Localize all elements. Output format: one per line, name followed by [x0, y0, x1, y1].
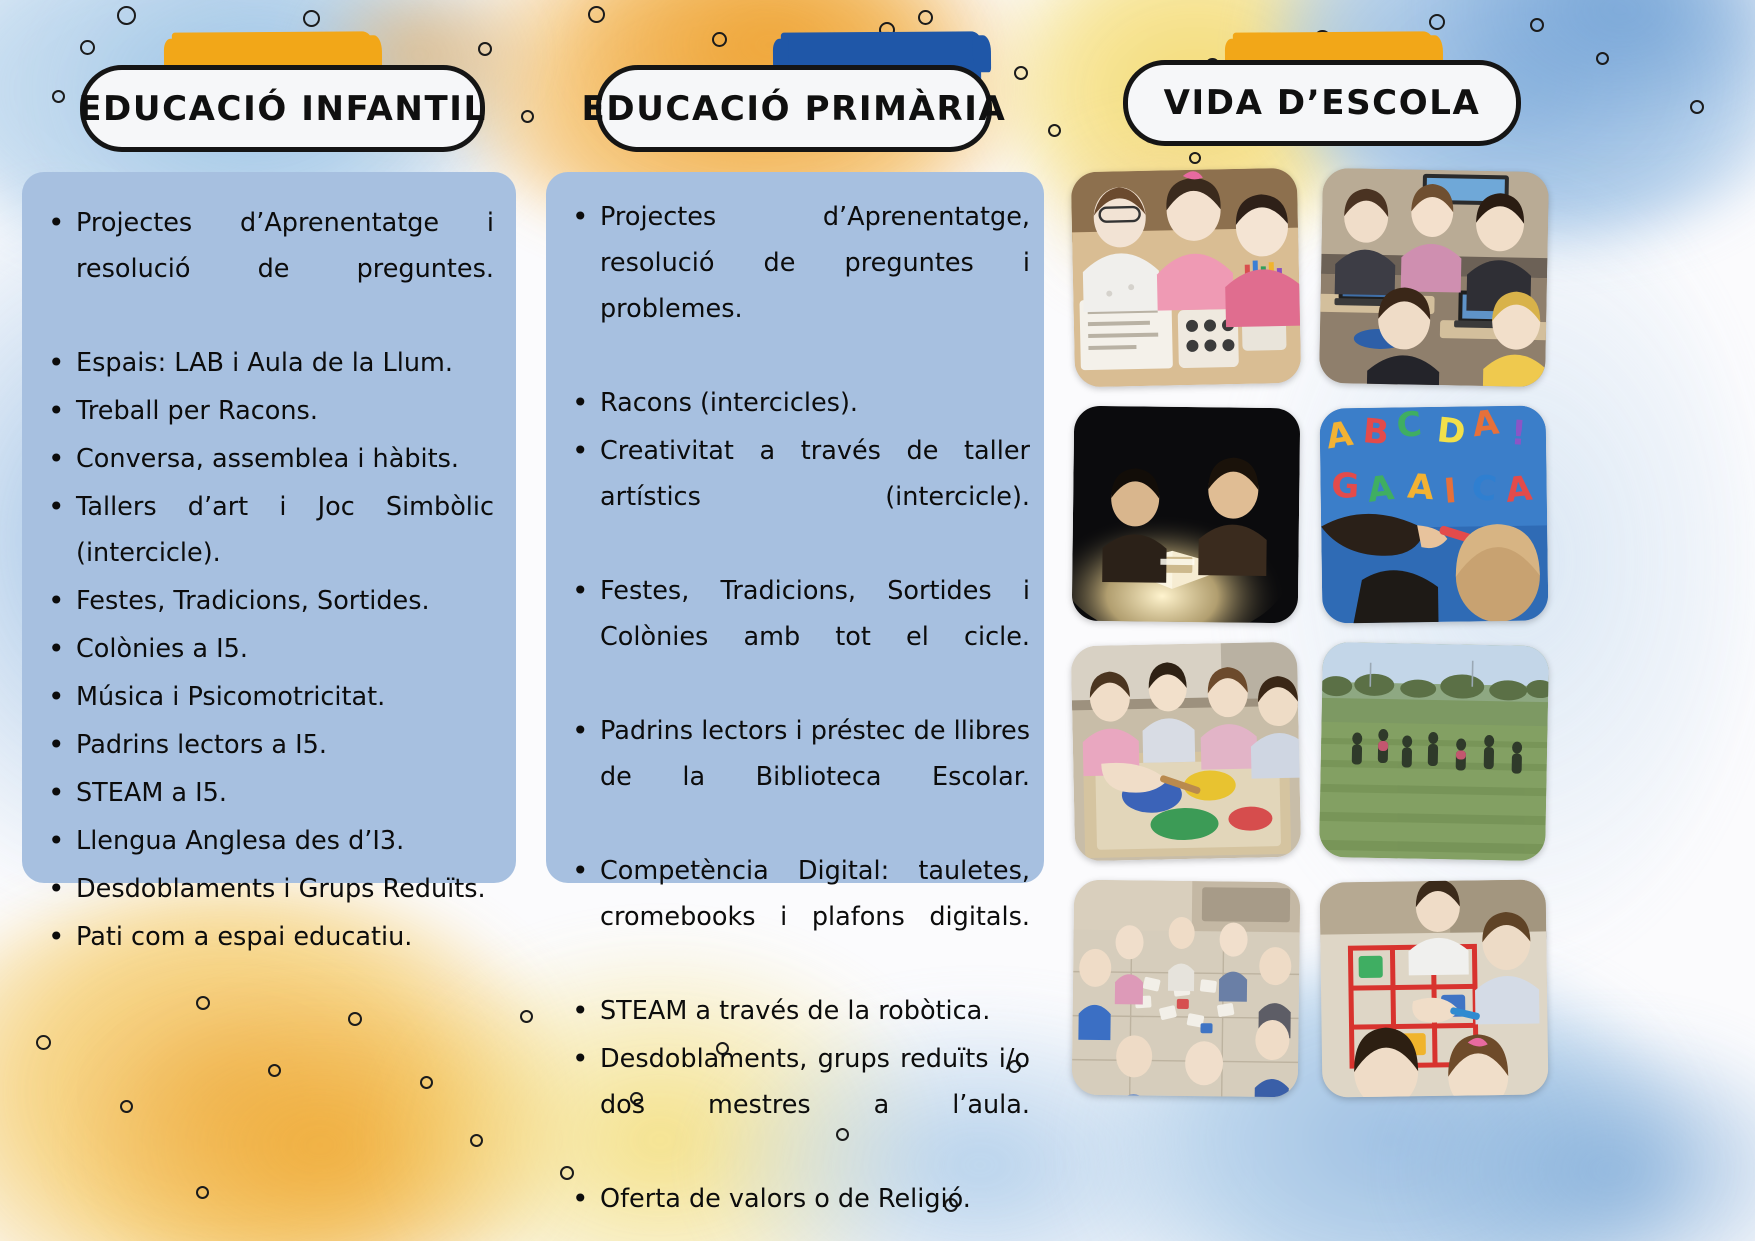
- list-item: Festes, Tradicions, Sortides.: [34, 578, 494, 624]
- header-plate-primaria: EDUCACIÓ PRIMÀRIA: [596, 65, 992, 152]
- doodle-circle: [1530, 18, 1544, 32]
- photo-grid-vida: A B C D A ! G A A I C A: [1073, 170, 1547, 1096]
- doodle-circle: [470, 1134, 483, 1147]
- doodle-circle: [268, 1064, 281, 1077]
- doodle-circle: [303, 10, 320, 27]
- doodle-circle: [117, 6, 136, 25]
- list-primaria: Projectes d’Aprenentatge, resolució de p…: [558, 194, 1030, 1222]
- list-item: Competència Digital: tauletes, cromebook…: [558, 848, 1030, 986]
- svg-text:D: D: [1435, 410, 1467, 453]
- doodle-circle: [918, 10, 933, 25]
- photo-classroom-worksheet: [1071, 168, 1301, 388]
- list-item: Oferta de valors o de Religió.: [558, 1176, 1030, 1222]
- list-item: Desdoblaments, grups reduïts i/o dos mes…: [558, 1036, 1030, 1174]
- list-item: Padrins lectors i préstec de llibres de …: [558, 708, 1030, 846]
- svg-text:A: A: [1365, 468, 1397, 511]
- poster-canvas: EDUCACIÓ INFANTIL EDUCACIÓ PRIMÀRIA VIDA…: [0, 0, 1755, 1241]
- list-infantil: Projectes d’Aprenentatge i resolució de …: [34, 200, 494, 960]
- doodle-circle: [196, 996, 210, 1010]
- list-item: Colònies a I5.: [34, 626, 494, 672]
- list-item: Treball per Racons.: [34, 388, 494, 434]
- svg-text:!: !: [1509, 413, 1527, 454]
- doodle-circle: [80, 40, 95, 55]
- photo-laptops-classroom: [1319, 168, 1549, 387]
- doodle-circle: [420, 1076, 433, 1089]
- doodle-circle: [1596, 52, 1609, 65]
- photo-field-outdoors: [1319, 642, 1549, 861]
- svg-text:A: A: [1504, 468, 1535, 511]
- doodle-circle: [1014, 66, 1028, 80]
- photo-mural-letters: A B C D A ! G A A I C A: [1320, 405, 1549, 623]
- list-item: Creativitat a través de taller artístics…: [558, 428, 1030, 566]
- card-primaria: Projectes d’Aprenentatge, resolució de p…: [546, 172, 1044, 883]
- doodle-circle: [588, 6, 605, 23]
- doodle-circle: [1189, 152, 1201, 164]
- doodle-circle: [1690, 100, 1704, 114]
- header-label-infantil: EDUCACIÓ INFANTIL: [78, 89, 487, 129]
- list-item: Espais: LAB i Aula de la Llum.: [34, 340, 494, 386]
- photo-group-painting: [1071, 642, 1301, 862]
- photo-grid-board-activity: [1320, 879, 1549, 1097]
- doodle-circle: [521, 110, 534, 123]
- list-item: STEAM a I5.: [34, 770, 494, 816]
- header-plate-vida: VIDA D’ESCOLA: [1123, 60, 1521, 146]
- list-item: Projectes d’Aprenentatge i resolució de …: [34, 200, 494, 338]
- doodle-circle: [478, 42, 492, 56]
- doodle-circle: [196, 1186, 209, 1199]
- svg-text:A: A: [1470, 405, 1502, 445]
- list-item: Padrins lectors a I5.: [34, 722, 494, 768]
- list-item: Conversa, assemblea i hàbits.: [34, 436, 494, 482]
- card-infantil: Projectes d’Aprenentatge i resolució de …: [22, 172, 516, 883]
- list-item: Música i Psicomotricitat.: [34, 674, 494, 720]
- svg-text:C: C: [1395, 405, 1424, 446]
- header-label-primaria: EDUCACIÓ PRIMÀRIA: [582, 89, 1007, 129]
- list-item: Llengua Anglesa des d’I3.: [34, 818, 494, 864]
- list-item: STEAM a través de la robòtica.: [558, 988, 1030, 1034]
- list-item: Racons (intercicles).: [558, 380, 1030, 426]
- doodle-circle: [348, 1012, 362, 1026]
- doodle-circle: [52, 90, 65, 103]
- header-label-vida: VIDA D’ESCOLA: [1164, 83, 1481, 123]
- doodle-circle: [1429, 14, 1445, 30]
- list-item: Festes, Tradicions, Sortides i Colònies …: [558, 568, 1030, 706]
- svg-text:G: G: [1330, 465, 1360, 506]
- doodle-circle: [1048, 124, 1061, 137]
- svg-text:A: A: [1406, 466, 1436, 508]
- photo-dark-light-table: [1072, 406, 1301, 624]
- list-item: Pati com a espai educatiu.: [34, 914, 494, 960]
- doodle-circle: [712, 32, 727, 47]
- doodle-circle: [520, 1010, 533, 1023]
- list-item: Projectes d’Aprenentatge, resolució de p…: [558, 194, 1030, 378]
- svg-text:B: B: [1361, 411, 1390, 453]
- doodle-circle: [120, 1100, 133, 1113]
- list-item: Tallers d’art i Joc Simbòlic (intercicle…: [34, 484, 494, 576]
- header-plate-infantil: EDUCACIÓ INFANTIL: [80, 65, 485, 152]
- svg-text:C: C: [1470, 468, 1498, 510]
- photo-circle-floor-game: [1072, 880, 1301, 1098]
- doodle-circle: [36, 1035, 51, 1050]
- list-item: Desdoblaments i Grups Reduïts.: [34, 866, 494, 912]
